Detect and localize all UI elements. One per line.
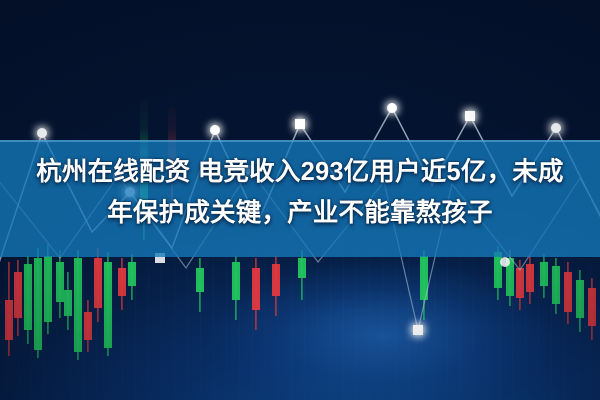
news-banner-image: 杭州在线配资 电竞收入293亿用户近5亿，未成 年保护成关键，产业不能靠熬孩子 [0, 0, 600, 400]
headline-line-2: 年保护成关键，产业不能靠熬孩子 [0, 193, 600, 234]
headline-text: 杭州在线配资 电竞收入293亿用户近5亿，未成 年保护成关键，产业不能靠熬孩子 [0, 152, 600, 234]
band-top-edge [0, 140, 600, 142]
headline-line-1: 杭州在线配资 电竞收入293亿用户近5亿，未成 [0, 152, 600, 193]
